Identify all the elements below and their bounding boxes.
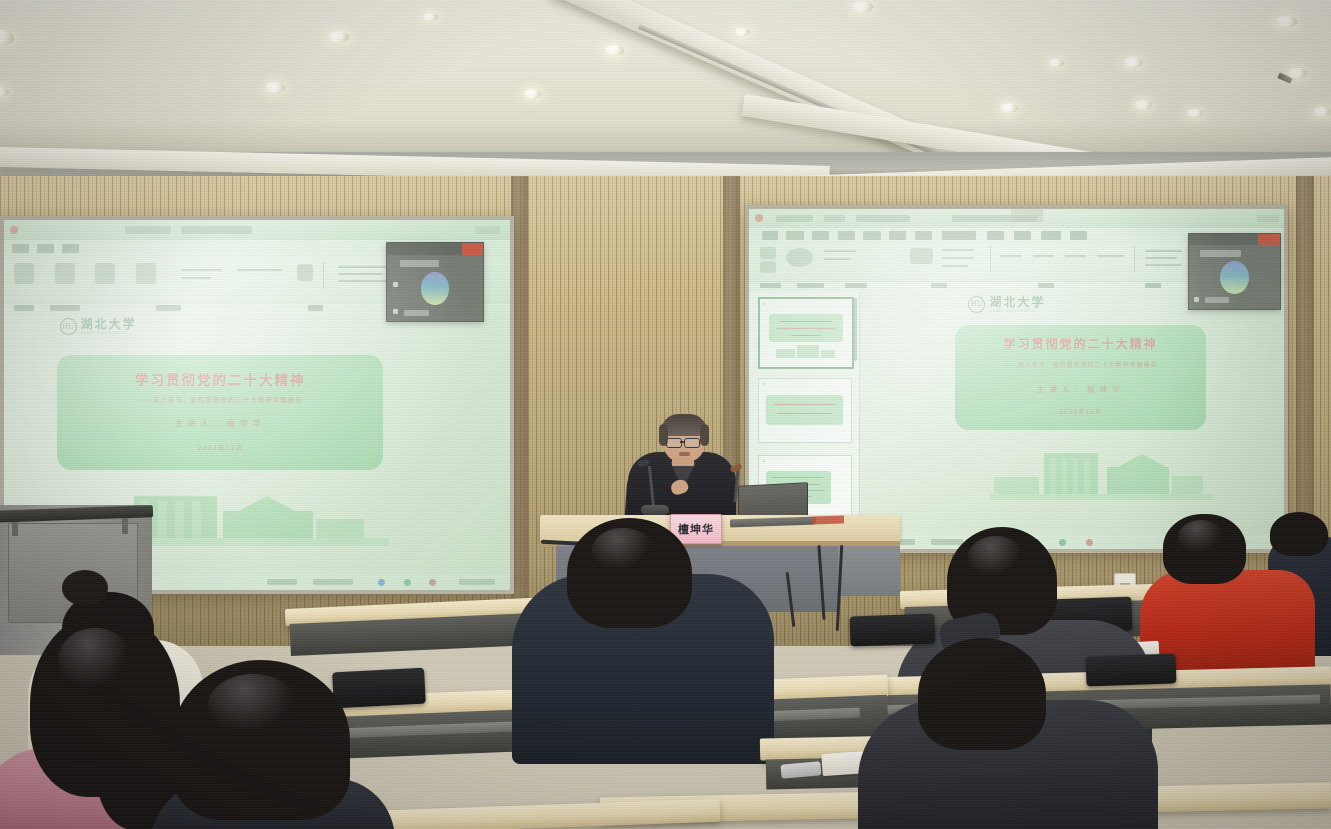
slide-date: 2022年12月 bbox=[955, 407, 1206, 416]
ribbon-control[interactable] bbox=[1097, 255, 1124, 257]
ribbon-control[interactable] bbox=[1145, 250, 1182, 252]
university-logo: HU 湖北大学 HUBEI UNIVERSITY bbox=[60, 318, 137, 335]
slide-presenter: 主讲人：檀坤华 bbox=[955, 384, 1206, 395]
video-window-titlebar[interactable] bbox=[387, 243, 483, 255]
glasses-icon bbox=[666, 438, 682, 448]
glasses-icon bbox=[684, 438, 700, 448]
app-titlebar bbox=[4, 220, 510, 240]
menu-item-more[interactable] bbox=[1070, 231, 1087, 239]
titlebar-tab[interactable] bbox=[824, 215, 845, 222]
menu-item-slideshow[interactable] bbox=[915, 231, 932, 239]
speaker-name: 檀坤华 bbox=[678, 521, 714, 537]
downlight bbox=[1000, 103, 1018, 113]
ribbon-control[interactable] bbox=[824, 250, 856, 252]
titlebar-tab[interactable] bbox=[776, 215, 813, 222]
wps-logo-icon bbox=[755, 214, 763, 222]
menu-item-file[interactable] bbox=[762, 231, 778, 239]
slide-title-card: 学习贯彻党的二十大精神 ——深入学习、宣传贯彻党的二十大精神专题报告 主讲人：檀… bbox=[955, 325, 1206, 430]
downlight bbox=[1123, 57, 1143, 68]
ribbon-separator bbox=[990, 246, 991, 272]
status-slide-count bbox=[267, 579, 297, 585]
ribbon-icon[interactable] bbox=[14, 263, 34, 284]
ribbon-icon[interactable] bbox=[297, 264, 312, 282]
seat-back bbox=[1086, 653, 1177, 686]
speaker-hair bbox=[700, 424, 709, 446]
subbar-control[interactable] bbox=[797, 283, 824, 288]
titlebar-tab[interactable] bbox=[181, 226, 252, 234]
menu-item-animation[interactable] bbox=[889, 231, 906, 239]
ribbon-icon[interactable] bbox=[95, 263, 115, 284]
video-caption bbox=[1200, 250, 1242, 257]
slide-title-card: 学习贯彻党的二十大精神 ——深入学习、宣传贯彻党的二十大精神专题报告 主讲人：檀… bbox=[57, 355, 383, 470]
menu-item-design[interactable] bbox=[838, 231, 855, 239]
subbar-control[interactable] bbox=[50, 305, 80, 312]
app-titlebar bbox=[749, 209, 1284, 228]
thumbnail-number: 1 bbox=[763, 301, 765, 306]
close-icon[interactable] bbox=[462, 243, 483, 255]
university-seal-icon: HU bbox=[60, 318, 77, 335]
status-zoom[interactable] bbox=[459, 579, 494, 585]
speaker-mouth bbox=[679, 452, 690, 456]
downlight bbox=[604, 45, 624, 56]
ribbon-icon[interactable] bbox=[136, 263, 156, 284]
ribbon-control[interactable] bbox=[824, 258, 851, 260]
ribbon-paste-icon[interactable] bbox=[786, 248, 813, 267]
wps-logo-icon bbox=[10, 226, 18, 234]
university-name-en: HUBEI UNIVERSITY bbox=[989, 309, 1045, 313]
microphone-base bbox=[641, 505, 669, 515]
ribbon-control[interactable] bbox=[1000, 255, 1021, 257]
university-logo: HU 湖北大学 HUBEI UNIVERSITY bbox=[968, 296, 1045, 313]
ribbon-control[interactable] bbox=[942, 265, 969, 267]
ribbon-control[interactable] bbox=[1065, 255, 1086, 257]
menu-item-insert[interactable] bbox=[812, 231, 829, 239]
microphone-icon[interactable] bbox=[393, 309, 398, 314]
slide-title: 学习贯彻党的二十大精神 bbox=[57, 369, 383, 389]
video-sidebar-icon[interactable] bbox=[393, 282, 398, 287]
ribbon-control[interactable] bbox=[181, 269, 221, 271]
menu-item-tools[interactable] bbox=[1041, 231, 1061, 239]
slide-thumbnail[interactable]: 2 bbox=[758, 378, 852, 443]
menu-item-view[interactable] bbox=[987, 231, 1004, 239]
lectern-clip bbox=[12, 520, 18, 536]
subbar-control[interactable] bbox=[1038, 283, 1054, 288]
thumbnail-number: 3 bbox=[762, 458, 764, 463]
titlebar-tab[interactable] bbox=[856, 215, 910, 222]
ribbon-separator bbox=[323, 262, 324, 290]
lectern-clip bbox=[122, 518, 128, 534]
ribbon-control[interactable] bbox=[237, 269, 283, 271]
ribbon-icon[interactable] bbox=[760, 261, 776, 273]
downlight bbox=[327, 31, 349, 43]
subbar-control[interactable] bbox=[931, 283, 947, 288]
seat-back bbox=[850, 614, 936, 647]
university-seal-icon: HU bbox=[968, 296, 985, 313]
slide-presenter: 主讲人：檀坤华 bbox=[57, 418, 383, 429]
tencent-meeting-window[interactable] bbox=[386, 242, 484, 322]
ribbon-control[interactable] bbox=[1033, 255, 1054, 257]
view-slideshow-icon[interactable] bbox=[1086, 539, 1093, 546]
seat-back bbox=[332, 668, 426, 709]
downlight bbox=[1313, 107, 1331, 117]
menu-item-insert[interactable] bbox=[62, 244, 79, 253]
downlight bbox=[851, 1, 873, 13]
status-label bbox=[313, 579, 353, 585]
video-caption bbox=[400, 260, 438, 267]
subbar-control[interactable] bbox=[308, 305, 323, 312]
menu-item-file[interactable] bbox=[12, 244, 29, 253]
ribbon-icon[interactable] bbox=[760, 247, 776, 259]
video-status-label bbox=[1205, 297, 1229, 303]
ribbon-control[interactable] bbox=[1145, 257, 1177, 259]
ribbon-control[interactable] bbox=[338, 273, 384, 275]
campus-illustration bbox=[990, 437, 1215, 512]
view-slideshow-icon[interactable] bbox=[429, 579, 436, 586]
window-controls[interactable] bbox=[1257, 215, 1278, 222]
downlight bbox=[1134, 100, 1152, 110]
ribbon-control[interactable] bbox=[181, 277, 211, 279]
university-name: 湖北大学 bbox=[81, 318, 137, 330]
downlight bbox=[1287, 68, 1307, 79]
menu-item-transition[interactable] bbox=[863, 231, 880, 239]
slide-date: 2022年12月 bbox=[57, 442, 383, 452]
menu-item-home[interactable] bbox=[786, 231, 803, 239]
video-avatar bbox=[1220, 261, 1249, 294]
subbar-control[interactable] bbox=[845, 283, 866, 288]
downlight bbox=[1275, 16, 1297, 28]
window-controls[interactable] bbox=[475, 226, 500, 234]
quick-access-toolbar[interactable] bbox=[1011, 209, 1043, 222]
microphone-icon[interactable] bbox=[1194, 297, 1199, 302]
ribbon-icon[interactable] bbox=[910, 248, 934, 264]
subbar-control[interactable] bbox=[760, 283, 781, 288]
video-status-label bbox=[404, 310, 429, 316]
menu-item-security[interactable] bbox=[1014, 231, 1031, 239]
tencent-meeting-window[interactable] bbox=[1188, 233, 1281, 310]
downlight bbox=[265, 82, 285, 93]
menu-item-review[interactable] bbox=[942, 231, 977, 239]
titlebar-tab[interactable] bbox=[125, 226, 171, 234]
panel-scrollbar[interactable] bbox=[854, 298, 857, 361]
lecture-hall-photo: HU 湖北大学 HUBEI UNIVERSITY 学习贯彻党的二十大精神 ——深… bbox=[0, 0, 1331, 829]
slide-title: 学习贯彻党的二十大精神 bbox=[955, 335, 1206, 352]
view-sorter-icon[interactable] bbox=[1059, 539, 1066, 546]
view-sorter-icon[interactable] bbox=[404, 579, 411, 586]
university-name-en: HUBEI UNIVERSITY bbox=[81, 331, 137, 335]
subbar-control[interactable] bbox=[1145, 283, 1161, 288]
slide-subtitle: ——深入学习、宣传贯彻党的二十大精神专题报告 bbox=[57, 394, 383, 404]
ribbon-control[interactable] bbox=[942, 257, 974, 259]
slide-subtitle: ——深入学习、宣传贯彻党的二十大精神专题报告 bbox=[955, 360, 1206, 369]
menu-item-home[interactable] bbox=[37, 244, 54, 253]
university-name: 湖北大学 bbox=[989, 296, 1045, 308]
close-icon[interactable] bbox=[1258, 234, 1280, 245]
video-window-titlebar[interactable] bbox=[1189, 234, 1280, 245]
status-label bbox=[931, 539, 963, 545]
downlight bbox=[523, 89, 541, 99]
thumbnail-number: 2 bbox=[762, 381, 764, 386]
video-avatar bbox=[421, 272, 450, 305]
right-projection-screen[interactable]: 1 2 3 bbox=[745, 205, 1288, 553]
ribbon-separator bbox=[1134, 246, 1135, 272]
presenter-table-skirt bbox=[838, 546, 900, 596]
view-normal-icon[interactable] bbox=[378, 579, 385, 586]
red-folder bbox=[812, 515, 844, 524]
glasses-bridge bbox=[680, 441, 685, 443]
subbar-control[interactable] bbox=[14, 305, 34, 312]
ribbon-control[interactable] bbox=[1145, 264, 1182, 266]
subbar-control[interactable] bbox=[156, 305, 181, 312]
ribbon-control[interactable] bbox=[942, 249, 974, 251]
slide-thumbnail[interactable]: 1 bbox=[758, 297, 854, 369]
ribbon-icon[interactable] bbox=[55, 263, 75, 284]
